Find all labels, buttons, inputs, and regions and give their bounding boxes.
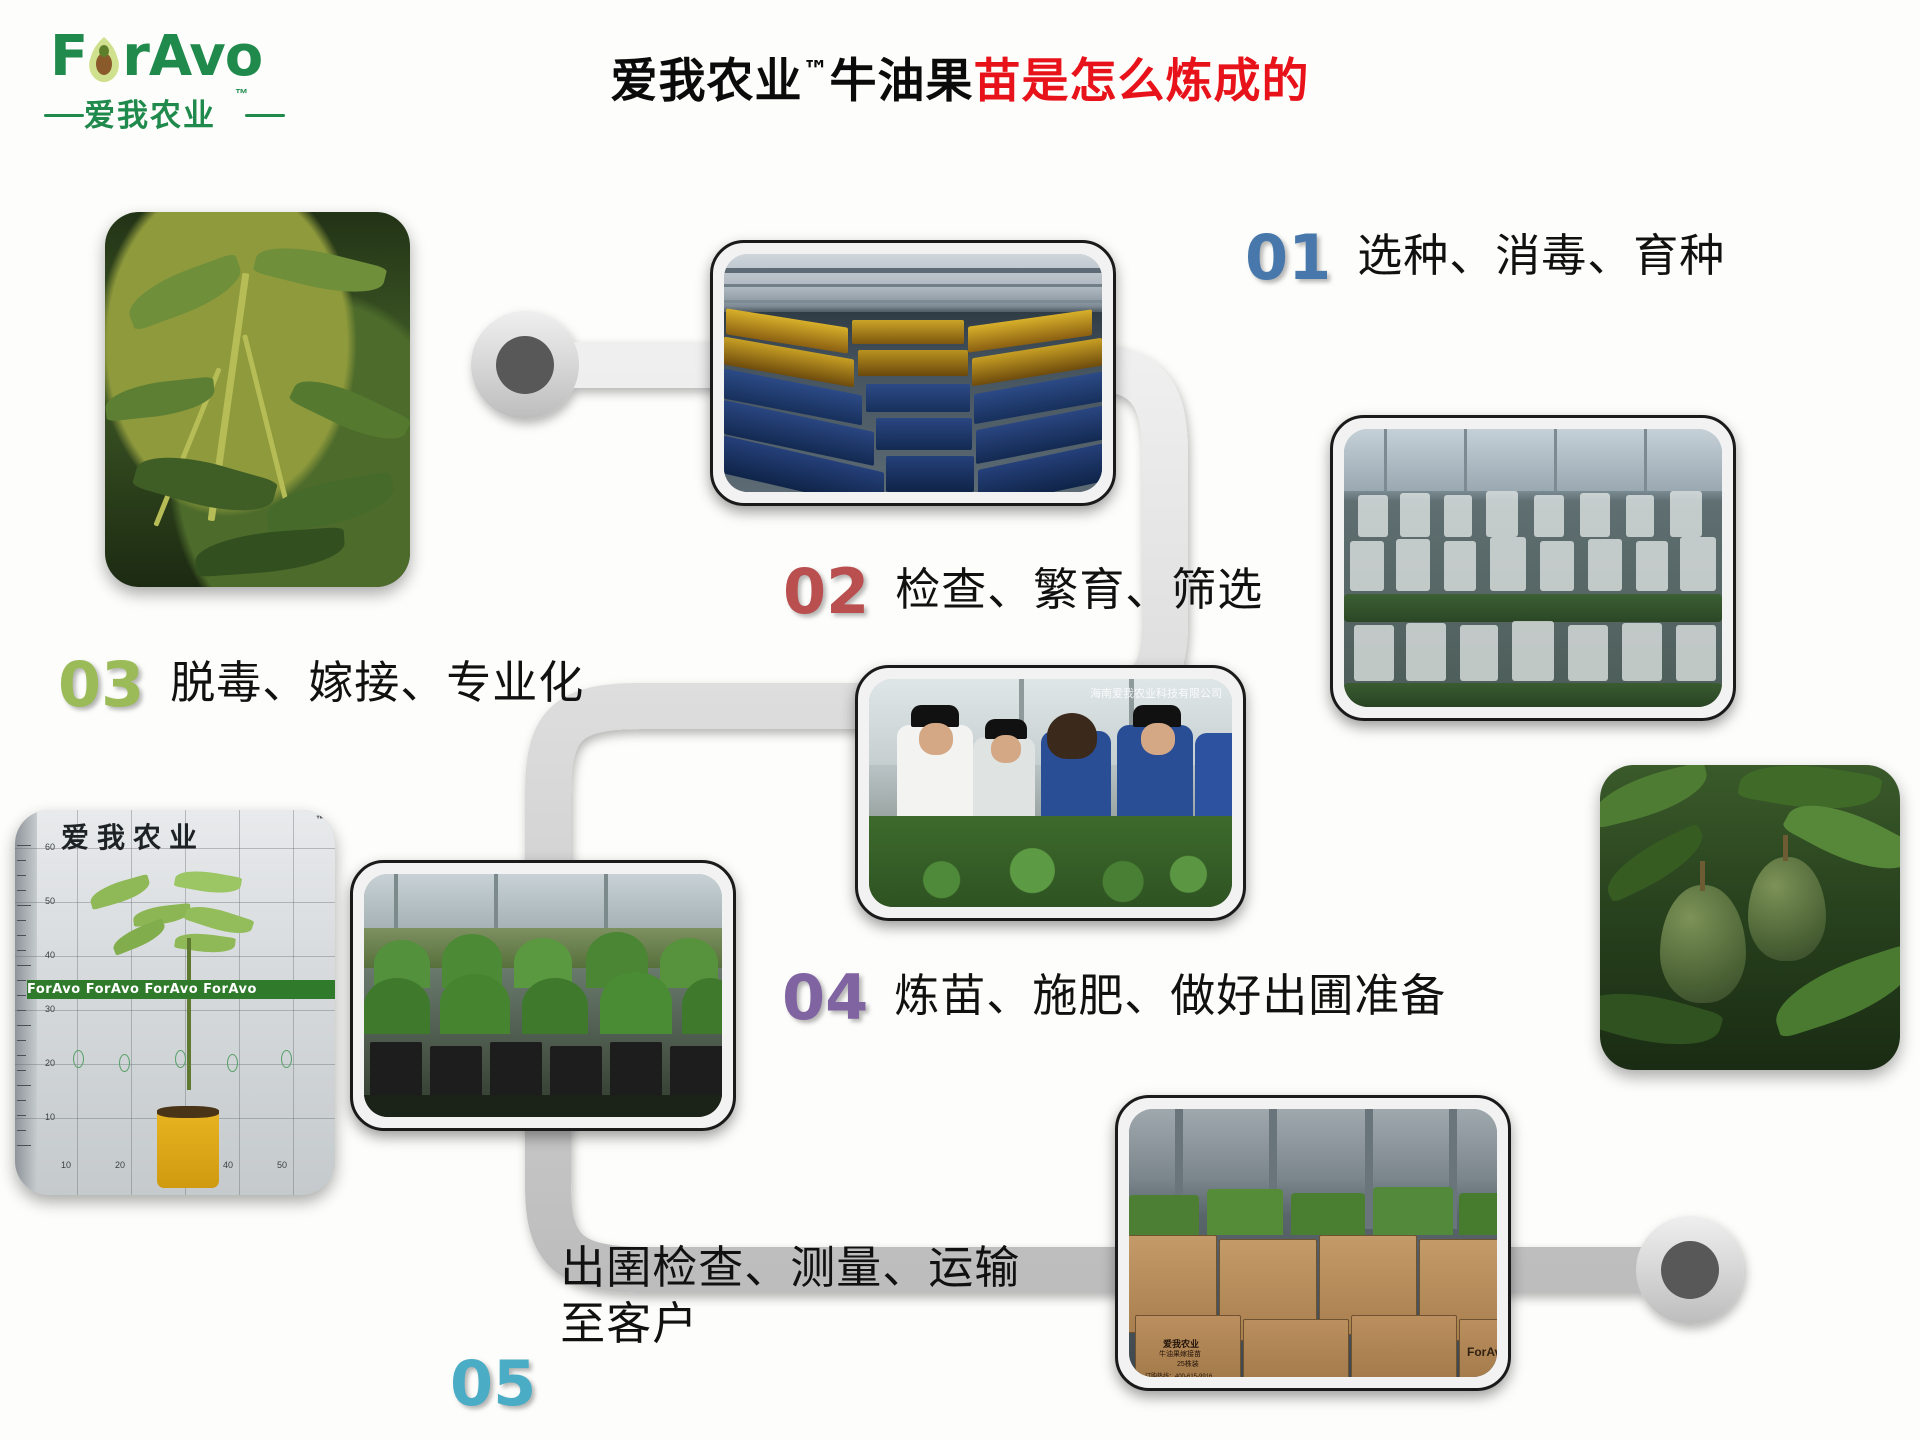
step-04-number: 04: [782, 968, 868, 1028]
carton-phone-line: 订购热线：400-615-9916: [1145, 1371, 1212, 1377]
photo-hanging-fruit: [1600, 765, 1900, 1070]
step-05-label: 出圉检查、测量、运输 至客户: [560, 1240, 1020, 1352]
bottom-mark-20: 20: [115, 1160, 125, 1170]
step-02-number: 02: [783, 562, 869, 622]
scale-mark-60: 60: [45, 842, 55, 852]
scale-mark-10: 10: [45, 1112, 55, 1122]
step-05-shipping: 05 出圉检查、测量、运输 至客户: [450, 1288, 1020, 1400]
step-04-hardening-fertilizing: 04 炼苗、施肥、做好出圃准备: [782, 968, 1446, 1028]
step-03-virus-free-grafting: 03 脱毒、嫁接、专业化: [58, 655, 584, 715]
ribbon-start-dot: [496, 336, 554, 394]
scale-mark-50: 50: [45, 896, 55, 906]
carton-product-line: 牛油果嫁接苗: [1159, 1349, 1201, 1359]
step-05-label-line1: 出圉检查、测量、运输: [560, 1240, 1020, 1296]
bottom-mark-40: 40: [223, 1160, 233, 1170]
scale-mark-20: 20: [45, 1058, 55, 1068]
step-02-label: 检查、繁育、筛选: [895, 562, 1263, 618]
step-03-number: 03: [58, 655, 144, 715]
infographic-canvas: F rAvo 爱我农业 ™ 爱我农业™牛油果苗是怎么炼成的: [0, 0, 1920, 1440]
bottom-mark-50: 50: [277, 1160, 287, 1170]
step-01-label: 选种、消毒、育种: [1357, 228, 1725, 284]
photo-shipping-cartons: 爱我农业 牛油果嫁接苗 25株装 订购热线：400-615-9916 ForAv…: [1115, 1095, 1511, 1391]
carton-quantity-line: 25株装: [1177, 1359, 1199, 1369]
scale-mark-40: 40: [45, 950, 55, 960]
ruler-brand-band: ForAvo ForAvo ForAvo ForAvo: [27, 980, 335, 999]
photo-inspection-team: 海南爱我农业科技有限公司: [855, 665, 1246, 921]
step-05-number: 05: [450, 1354, 536, 1414]
ruler-photo-header-tm: ™: [316, 814, 325, 824]
photo-avocado-flowers: [105, 212, 410, 587]
step-01-number: 01: [1245, 228, 1331, 288]
photo-greenhouse-bags: [1330, 415, 1736, 721]
step-05-label-line2: 至客户: [560, 1296, 1020, 1352]
step-01-seed-selection: 01 选种、消毒、育种: [1245, 228, 1725, 288]
photo-ruler-seedling: 爱我农业 ™ 60 50 40 30 20 10 10 20 30 40 50: [15, 810, 335, 1195]
photo-watermark: 海南爱我农业科技有限公司: [1090, 685, 1222, 701]
photo-potted-seedlings: [350, 860, 736, 1131]
bottom-mark-10: 10: [61, 1160, 71, 1170]
step-03-label: 脱毒、嫁接、专业化: [170, 655, 584, 711]
ribbon-end-dot: [1661, 1241, 1719, 1299]
scale-mark-30: 30: [45, 1004, 55, 1014]
carton-side-brand: ForAvo: [1467, 1345, 1497, 1359]
photo-seed-trays: [710, 240, 1116, 506]
step-04-label: 炼苗、施肥、做好出圃准备: [894, 968, 1446, 1024]
ruler-photo-header: 爱我农业: [61, 816, 205, 856]
step-02-inspection-breeding: 02 检查、繁育、筛选: [783, 562, 1263, 622]
